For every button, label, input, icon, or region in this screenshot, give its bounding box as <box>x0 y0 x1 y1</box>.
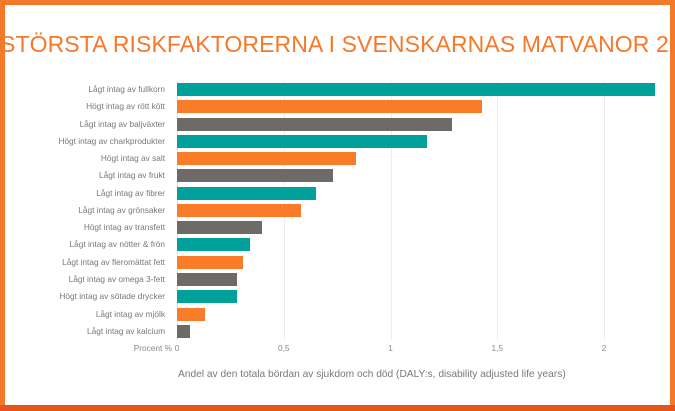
frame-border-top <box>0 0 675 5</box>
bar-row <box>177 323 604 340</box>
category-label: Lågt intag av nötter & frön <box>0 236 165 253</box>
x-tick-label: 0 <box>175 343 180 353</box>
x-tick-label: 2 <box>602 343 607 353</box>
gridline <box>604 81 605 340</box>
category-label: Lågt intag av fullkorn <box>0 81 165 98</box>
category-label: Högt intag av transfett <box>0 219 165 236</box>
x-tick-label: 1 <box>388 343 393 353</box>
bar-row <box>177 236 604 253</box>
chart-caption: Andel av den totala bördan av sjukdom oc… <box>178 369 566 380</box>
category-axis-labels: Lågt intag av fullkornHögt intag av rött… <box>0 81 171 340</box>
bar <box>177 83 655 96</box>
bar <box>177 256 243 269</box>
bar-row <box>177 98 604 115</box>
bar-row <box>177 150 604 167</box>
bar <box>177 135 427 148</box>
category-label: Lågt intag av frukt <box>0 167 165 184</box>
category-label: Lågt intag av fibrer <box>0 185 165 202</box>
bar-row <box>177 219 604 236</box>
category-label: Högt intag av salt <box>0 150 165 167</box>
frame-border-right <box>670 0 675 411</box>
bar <box>177 204 301 217</box>
bar <box>177 273 237 286</box>
bar-row <box>177 116 604 133</box>
bar <box>177 152 356 165</box>
category-label: Högt intag av sötade drycker <box>0 288 165 305</box>
plot-area <box>177 81 604 340</box>
category-label: Lågt intag av fleromättat fett <box>0 254 165 271</box>
bar-series <box>177 81 604 340</box>
x-axis-title: Procent % <box>110 343 172 353</box>
category-label: Lågt intag av mjölk <box>0 306 165 323</box>
bar-row <box>177 185 604 202</box>
bar-row <box>177 306 604 323</box>
category-label: Lågt intag av grönsaker <box>0 202 165 219</box>
bar <box>177 290 237 303</box>
chart-title: STÖRSTA RISKFAKTORERNA I SVENSKARNAS MAT… <box>0 31 675 58</box>
bar <box>177 187 316 200</box>
bar-row <box>177 288 604 305</box>
bar <box>177 118 452 131</box>
category-label: Lågt intag av kalcium <box>0 323 165 340</box>
bar <box>177 221 262 234</box>
x-tick-label: 1,5 <box>491 343 503 353</box>
x-tick-label: 0,5 <box>278 343 290 353</box>
bar-row <box>177 167 604 184</box>
bar <box>177 100 482 113</box>
bar-row <box>177 133 604 150</box>
bar-row <box>177 254 604 271</box>
bar <box>177 325 190 338</box>
frame-border-bottom <box>0 405 675 411</box>
x-axis-tick-labels: 00,511,52 <box>177 343 604 357</box>
bar <box>177 308 205 321</box>
category-label: Högt intag av rött kött <box>0 98 165 115</box>
bar <box>177 238 250 251</box>
bar <box>177 169 333 182</box>
category-label: Lågt intag av baljväxter <box>0 116 165 133</box>
bar-row <box>177 81 604 98</box>
bar-row <box>177 271 604 288</box>
category-label: Lågt intag av omega 3-fett <box>0 271 165 288</box>
bar-row <box>177 202 604 219</box>
category-label: Högt intag av charkprodukter <box>0 133 165 150</box>
chart-card: STÖRSTA RISKFAKTORERNA I SVENSKARNAS MAT… <box>0 0 675 411</box>
